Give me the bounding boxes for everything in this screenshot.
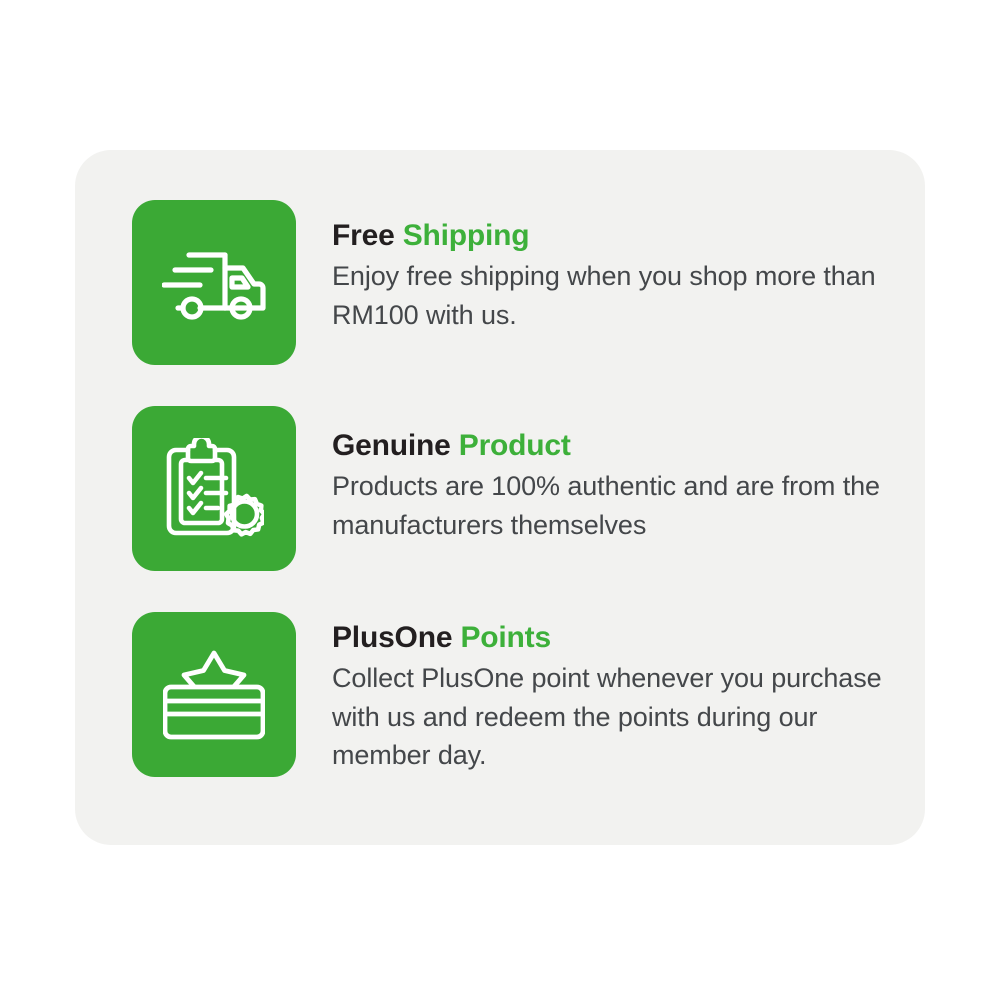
benefit-icon-tile-points — [132, 612, 296, 777]
benefit-heading-primary: Free — [332, 219, 395, 252]
benefit-heading-accent: Shipping — [403, 219, 530, 252]
benefit-text-points: PlusOne Points Collect PlusOne point whe… — [296, 612, 892, 774]
benefit-heading-genuine: Genuine Product — [332, 428, 892, 463]
page-canvas: Free Shipping Enjoy free shipping when y… — [0, 0, 1000, 1000]
benefit-text-shipping: Free Shipping Enjoy free shipping when y… — [296, 200, 892, 334]
benefit-heading-primary: Genuine — [332, 429, 451, 462]
benefit-heading-points: PlusOne Points — [332, 620, 892, 655]
benefit-heading-primary: PlusOne — [332, 621, 452, 654]
benefit-item-genuine: Genuine Product Products are 100% authen… — [132, 406, 892, 571]
benefit-body-points: Collect PlusOne point whenever you purch… — [332, 659, 892, 774]
benefit-icon-tile-shipping — [132, 200, 296, 365]
benefit-heading-accent: Product — [459, 429, 571, 462]
benefit-text-genuine: Genuine Product Products are 100% authen… — [296, 406, 892, 544]
clipboard-certified-icon — [164, 438, 264, 540]
benefit-body-genuine: Products are 100% authentic and are from… — [332, 467, 892, 544]
benefit-body-shipping: Enjoy free shipping when you shop more t… — [332, 257, 892, 334]
loyalty-card-star-icon — [163, 649, 265, 741]
benefits-card: Free Shipping Enjoy free shipping when y… — [75, 150, 925, 845]
benefit-icon-tile-genuine — [132, 406, 296, 571]
benefit-item-shipping: Free Shipping Enjoy free shipping when y… — [132, 200, 892, 365]
benefit-list: Free Shipping Enjoy free shipping when y… — [132, 200, 892, 777]
benefit-heading-shipping: Free Shipping — [332, 218, 892, 253]
benefit-item-points: PlusOne Points Collect PlusOne point whe… — [132, 612, 892, 777]
delivery-truck-icon — [162, 246, 266, 320]
benefit-heading-accent: Points — [460, 621, 550, 654]
